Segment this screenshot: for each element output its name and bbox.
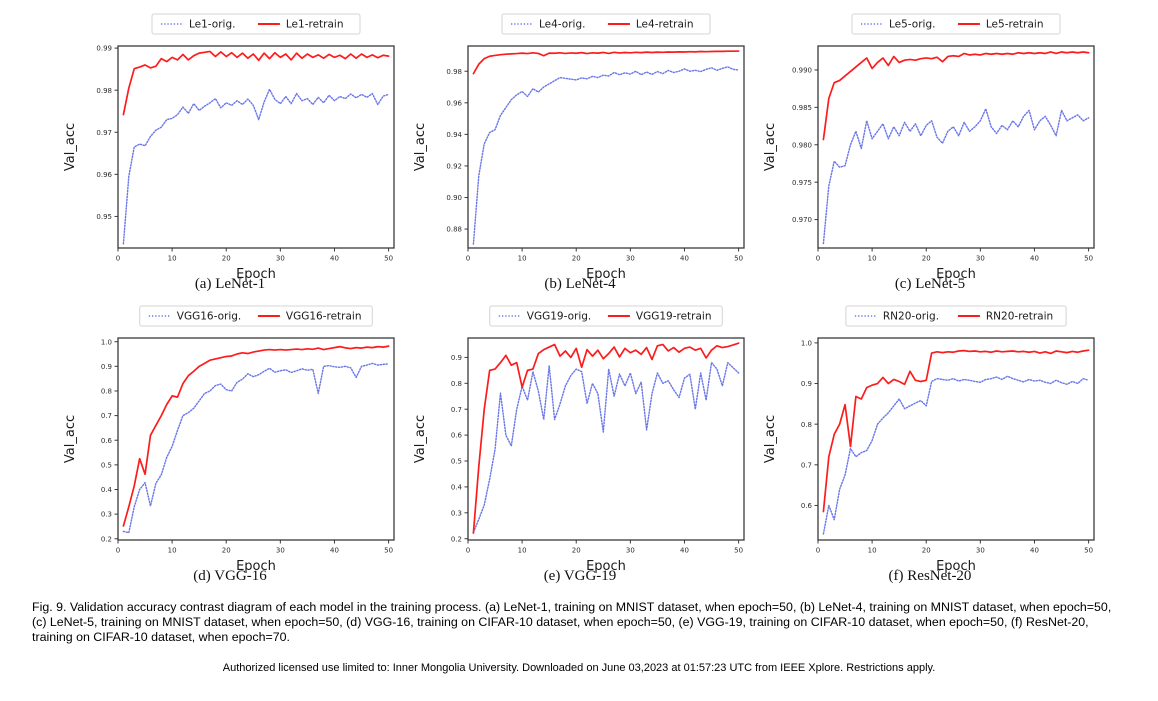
y-axis-label: Val_acc xyxy=(763,123,778,171)
y-tick-label: 0.7 xyxy=(801,461,812,469)
legend-label: Le4-retrain xyxy=(636,19,694,31)
y-tick-label: 0.98 xyxy=(446,68,462,76)
plot-frame xyxy=(818,46,1094,248)
y-tick-label: 0.97 xyxy=(96,129,112,137)
figure-container: Le1-orig.Le1-retrain010203040500.950.960… xyxy=(0,0,1158,701)
x-tick-label: 50 xyxy=(1084,547,1093,555)
y-tick-label: 0.96 xyxy=(96,171,112,179)
plot-frame xyxy=(118,46,394,248)
y-tick-label: 0.985 xyxy=(792,104,812,112)
chart-panel-lenet1: Le1-orig.Le1-retrain010203040500.950.960… xyxy=(56,8,404,293)
chart-svg-lenet4: Le4-orig.Le4-retrain010203040500.880.900… xyxy=(406,8,754,293)
y-tick-label: 0.98 xyxy=(96,87,112,95)
chart-panel-vgg19: VGG19-orig.VGG19-retrain010203040500.20.… xyxy=(406,300,754,585)
x-tick-label: 50 xyxy=(384,547,393,555)
y-tick-label: 1.0 xyxy=(101,338,112,346)
y-tick-label: 0.94 xyxy=(446,131,462,139)
legend-label: VGG16-orig. xyxy=(177,311,241,323)
y-axis-label: Val_acc xyxy=(63,415,78,463)
y-axis-label: Val_acc xyxy=(413,415,428,463)
subcaption-e: (e) VGG-19 xyxy=(406,568,754,585)
series-line-orig xyxy=(473,67,738,244)
plot-frame xyxy=(818,338,1094,540)
series-line-orig xyxy=(823,376,1088,534)
x-tick-label: 40 xyxy=(330,255,339,263)
y-tick-label: 0.4 xyxy=(101,486,113,494)
x-tick-label: 50 xyxy=(734,255,743,263)
y-tick-label: 0.7 xyxy=(101,412,112,420)
y-axis-label: Val_acc xyxy=(63,123,78,171)
y-tick-label: 0.980 xyxy=(792,141,812,149)
y-axis-label: Val_acc xyxy=(763,415,778,463)
x-tick-label: 10 xyxy=(868,547,877,555)
legend-vgg19: VGG19-orig.VGG19-retrain xyxy=(490,306,722,326)
y-tick-label: 0.6 xyxy=(451,432,463,440)
y-tick-label: 0.4 xyxy=(451,484,463,492)
chart-panel-lenet5: Le5-orig.Le5-retrain010203040500.9700.97… xyxy=(756,8,1104,293)
legend-label: Le5-orig. xyxy=(889,19,935,31)
plot-frame xyxy=(118,338,394,540)
x-tick-label: 20 xyxy=(572,255,581,263)
legend-label: Le1-retrain xyxy=(286,19,344,31)
x-tick-label: 20 xyxy=(222,255,231,263)
y-tick-label: 0.8 xyxy=(801,421,812,429)
y-tick-label: 0.6 xyxy=(101,437,113,445)
series-line-retrain xyxy=(473,51,738,74)
y-tick-label: 0.5 xyxy=(451,458,462,466)
legend-lenet4: Le4-orig.Le4-retrain xyxy=(502,14,710,34)
chart-panel-resnet20: RN20-orig.RN20-retrain010203040500.60.70… xyxy=(756,300,1104,585)
x-tick-label: 30 xyxy=(976,547,985,555)
y-tick-label: 0.92 xyxy=(446,163,462,171)
legend-resnet20: RN20-orig.RN20-retrain xyxy=(846,306,1066,326)
x-tick-label: 0 xyxy=(816,547,820,555)
x-tick-label: 30 xyxy=(626,547,635,555)
legend-label: VGG19-retrain xyxy=(636,311,712,323)
legend-label: VGG19-orig. xyxy=(527,311,591,323)
x-tick-label: 20 xyxy=(222,547,231,555)
y-tick-label: 0.970 xyxy=(792,216,812,224)
legend-vgg16: VGG16-orig.VGG16-retrain xyxy=(140,306,372,326)
x-tick-label: 30 xyxy=(626,255,635,263)
x-tick-label: 0 xyxy=(466,547,470,555)
y-tick-label: 0.9 xyxy=(101,363,112,371)
x-tick-label: 50 xyxy=(384,255,393,263)
y-tick-label: 0.3 xyxy=(451,509,462,517)
y-tick-label: 0.7 xyxy=(451,406,462,414)
x-tick-label: 10 xyxy=(868,255,877,263)
x-tick-label: 0 xyxy=(116,255,120,263)
series-line-orig xyxy=(123,89,388,243)
x-tick-label: 20 xyxy=(922,255,931,263)
y-tick-label: 0.99 xyxy=(96,45,112,53)
y-tick-label: 0.6 xyxy=(801,502,813,510)
subcaption-b: (b) LeNet-4 xyxy=(406,276,754,293)
chart-svg-vgg19: VGG19-orig.VGG19-retrain010203040500.20.… xyxy=(406,300,754,585)
x-tick-label: 50 xyxy=(1084,255,1093,263)
x-tick-label: 10 xyxy=(168,255,177,263)
y-tick-label: 0.9 xyxy=(801,380,812,388)
x-tick-label: 50 xyxy=(734,547,743,555)
y-tick-label: 0.3 xyxy=(101,511,112,519)
y-tick-label: 0.9 xyxy=(451,354,462,362)
x-tick-label: 40 xyxy=(680,547,689,555)
legend-label: Le5-retrain xyxy=(986,19,1044,31)
figure-caption: Fig. 9. Validation accuracy contrast dia… xyxy=(32,600,1128,646)
y-tick-label: 0.90 xyxy=(446,194,462,202)
series-line-retrain xyxy=(823,350,1088,511)
chart-panel-vgg16: VGG16-orig.VGG16-retrain010203040500.20.… xyxy=(56,300,404,585)
x-tick-label: 0 xyxy=(816,255,820,263)
subcaption-c: (c) LeNet-5 xyxy=(756,276,1104,293)
x-tick-label: 0 xyxy=(466,255,470,263)
subcaption-f: (f) ResNet-20 xyxy=(756,568,1104,585)
series-line-orig xyxy=(123,363,388,532)
series-line-retrain xyxy=(823,52,1088,140)
x-tick-label: 10 xyxy=(518,255,527,263)
series-line-retrain xyxy=(473,343,738,533)
y-tick-label: 0.975 xyxy=(792,179,812,187)
x-tick-label: 0 xyxy=(116,547,120,555)
legend-label: Le1-orig. xyxy=(189,19,235,31)
x-tick-label: 20 xyxy=(572,547,581,555)
legend-lenet5: Le5-orig.Le5-retrain xyxy=(852,14,1060,34)
y-axis-label: Val_acc xyxy=(413,123,428,171)
series-line-orig xyxy=(473,363,738,533)
legend-label: RN20-orig. xyxy=(883,311,939,323)
legend-label: RN20-retrain xyxy=(986,311,1053,323)
x-tick-label: 30 xyxy=(976,255,985,263)
legend-label: VGG16-retrain xyxy=(286,311,362,323)
chart-svg-resnet20: RN20-orig.RN20-retrain010203040500.60.70… xyxy=(756,300,1104,585)
chart-panel-lenet4: Le4-orig.Le4-retrain010203040500.880.900… xyxy=(406,8,754,293)
y-tick-label: 1.0 xyxy=(801,339,812,347)
y-tick-label: 0.2 xyxy=(451,535,462,543)
x-tick-label: 10 xyxy=(168,547,177,555)
series-line-retrain xyxy=(123,346,388,526)
y-tick-label: 0.8 xyxy=(101,388,112,396)
legend-lenet1: Le1-orig.Le1-retrain xyxy=(152,14,360,34)
x-tick-label: 40 xyxy=(1030,255,1039,263)
y-tick-label: 0.8 xyxy=(451,380,462,388)
y-tick-label: 0.88 xyxy=(446,226,462,234)
ieee-license-footer: Authorized licensed use limited to: Inne… xyxy=(0,662,1158,674)
y-tick-label: 0.5 xyxy=(101,461,112,469)
chart-svg-lenet1: Le1-orig.Le1-retrain010203040500.950.960… xyxy=(56,8,404,293)
y-tick-label: 0.96 xyxy=(446,99,462,107)
series-line-orig xyxy=(823,109,1088,244)
subcaption-a: (a) LeNet-1 xyxy=(56,276,404,293)
x-tick-label: 30 xyxy=(276,547,285,555)
x-tick-label: 10 xyxy=(518,547,527,555)
y-tick-label: 0.95 xyxy=(96,213,112,221)
legend-label: Le4-orig. xyxy=(539,19,585,31)
plot-frame xyxy=(468,338,744,540)
subcaption-d: (d) VGG-16 xyxy=(56,568,404,585)
x-tick-label: 30 xyxy=(276,255,285,263)
y-tick-label: 0.990 xyxy=(792,67,812,75)
chart-svg-lenet5: Le5-orig.Le5-retrain010203040500.9700.97… xyxy=(756,8,1104,293)
series-line-retrain xyxy=(123,51,388,114)
x-tick-label: 20 xyxy=(922,547,931,555)
x-tick-label: 40 xyxy=(1030,547,1039,555)
x-tick-label: 40 xyxy=(330,547,339,555)
chart-svg-vgg16: VGG16-orig.VGG16-retrain010203040500.20.… xyxy=(56,300,404,585)
x-tick-label: 40 xyxy=(680,255,689,263)
y-tick-label: 0.2 xyxy=(101,535,112,543)
